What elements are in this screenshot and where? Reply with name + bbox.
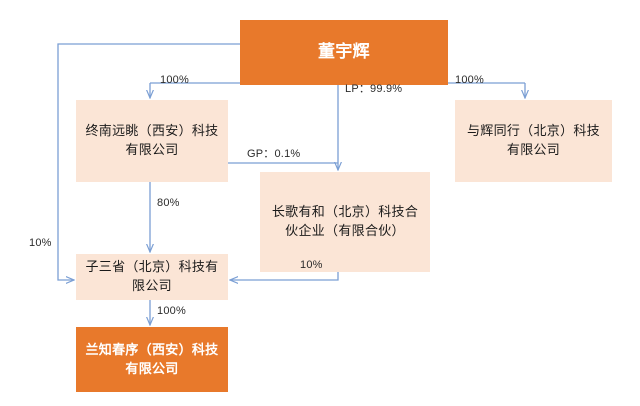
node-zhongnan-yuantiao-label: 终南远眺（西安）科技有限公司 (76, 122, 228, 160)
node-zhongnan-yuantiao[interactable]: 终南远眺（西安）科技有限公司 (76, 100, 228, 182)
edge-label-dyh-to-zhongnan: 100% (160, 74, 189, 86)
node-yuhui-tongxing[interactable]: 与辉同行（北京）科技有限公司 (455, 100, 612, 182)
edge-label-zisansheng-to-lanzhi: 100% (157, 305, 186, 317)
node-dong-yuhui-label: 董宇辉 (312, 40, 376, 65)
node-changge-youhe-label: 长歌有和（北京）科技合伙企业（有限合伙） (260, 203, 430, 241)
node-yuhui-tongxing-label: 与辉同行（北京）科技有限公司 (455, 122, 612, 160)
edge-label-zhongnan-to-changge: GP：0.1% (247, 145, 300, 161)
edge-label-dyh-to-changge: LP：99.9% (345, 80, 402, 96)
edge-changge-to-zisansheng (230, 272, 338, 280)
node-lanzhi-chunxu-label: 兰知春序（西安）科技有限公司 (76, 341, 228, 379)
edge-label-changge-to-zisansheng: 10% (300, 259, 323, 271)
node-zisansheng-label: 子三省（北京）科技有限公司 (76, 258, 228, 296)
node-changge-youhe[interactable]: 长歌有和（北京）科技合伙企业（有限合伙） (260, 172, 430, 272)
edge-label-zhongnan-to-zisansheng: 80% (157, 197, 180, 209)
edge-label-dyh-to-zisansheng: 10% (29, 237, 52, 249)
node-dong-yuhui[interactable]: 董宇辉 (240, 20, 448, 85)
node-lanzhi-chunxu[interactable]: 兰知春序（西安）科技有限公司 (76, 327, 228, 392)
equity-structure-diagram: 董宇辉 终南远眺（西安）科技有限公司 与辉同行（北京）科技有限公司 长歌有和（北… (0, 0, 640, 406)
edge-label-dyh-to-yuhui: 100% (455, 74, 484, 86)
node-zisansheng[interactable]: 子三省（北京）科技有限公司 (76, 254, 228, 300)
